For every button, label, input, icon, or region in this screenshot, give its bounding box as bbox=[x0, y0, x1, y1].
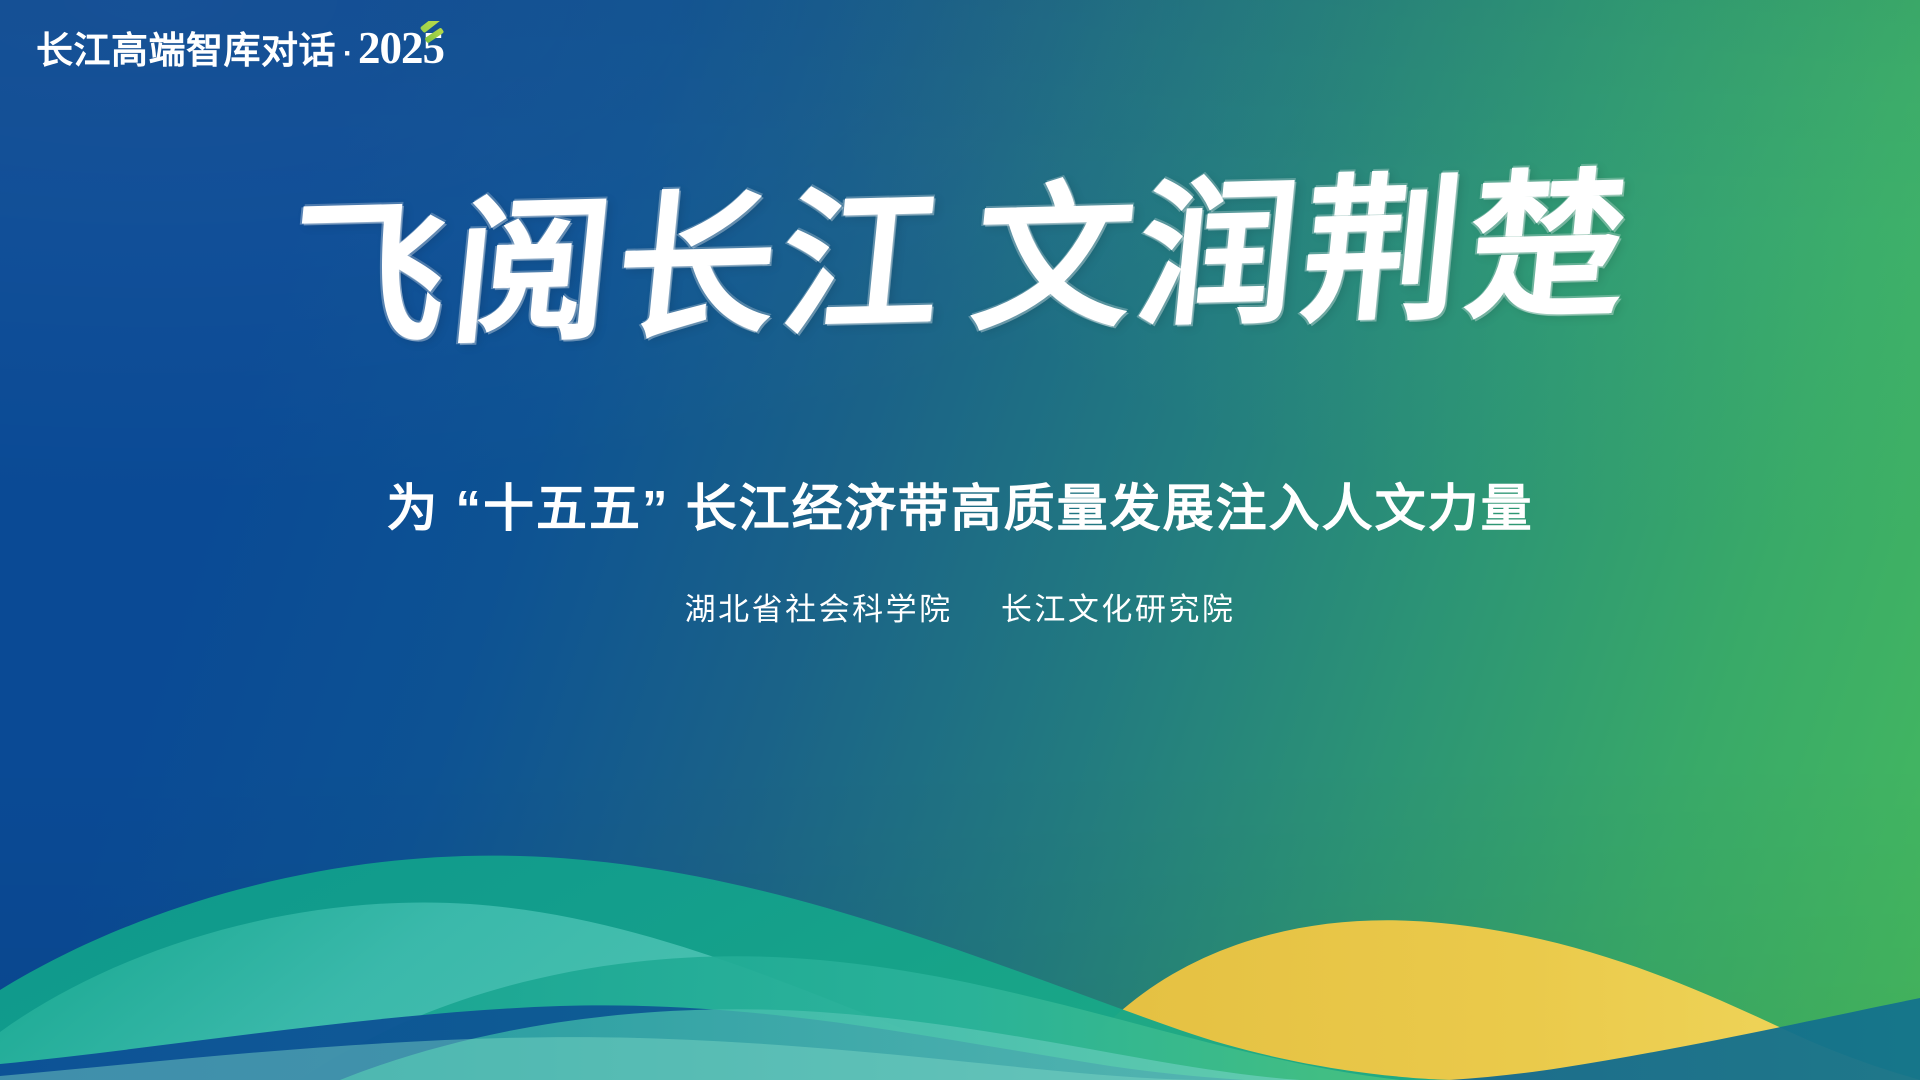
wave-teal-light bbox=[0, 902, 1120, 1080]
event-logo: 长江高端智库对话 · 2025 bbox=[36, 26, 444, 71]
subtitle: 为 “十五五” 长江经济带高质量发展注入人文力量 bbox=[0, 478, 1920, 539]
poster-canvas: 长江高端智库对话 · 2025 飞阅长江文润荆楚 为 “十五五” 长江经济带高质… bbox=[0, 0, 1920, 1080]
organizer-secondary: 长江文化研究院 bbox=[1001, 592, 1236, 627]
wave-green bbox=[300, 956, 1400, 1080]
wave-svg bbox=[0, 660, 1920, 1080]
wave-teal-crest bbox=[340, 1009, 1300, 1080]
main-title-segment-b: 文润荆楚 bbox=[965, 160, 1640, 351]
organizer-primary: 湖北省社会科学院 bbox=[685, 592, 953, 627]
event-logo-year-wrap: 2025 bbox=[358, 26, 444, 71]
main-title-calligraphy: 飞阅长江文润荆楚 bbox=[280, 169, 1639, 360]
wave-teal-dark bbox=[0, 856, 1460, 1080]
wave-blue bbox=[0, 998, 1920, 1080]
wave-highlight-ribbon bbox=[0, 1037, 1200, 1080]
event-logo-text: 长江高端智库对话 bbox=[36, 32, 336, 69]
wave-gold bbox=[1060, 920, 1920, 1080]
organizer-line: 湖北省社会科学院 长江文化研究院 bbox=[0, 590, 1920, 630]
main-title: 飞阅长江文润荆楚 bbox=[0, 185, 1920, 343]
event-logo-year: 2025 bbox=[358, 23, 444, 73]
event-logo-separator: · bbox=[343, 39, 353, 69]
main-title-segment-a: 飞阅长江 bbox=[280, 176, 955, 367]
wave-decoration bbox=[0, 660, 1920, 1080]
